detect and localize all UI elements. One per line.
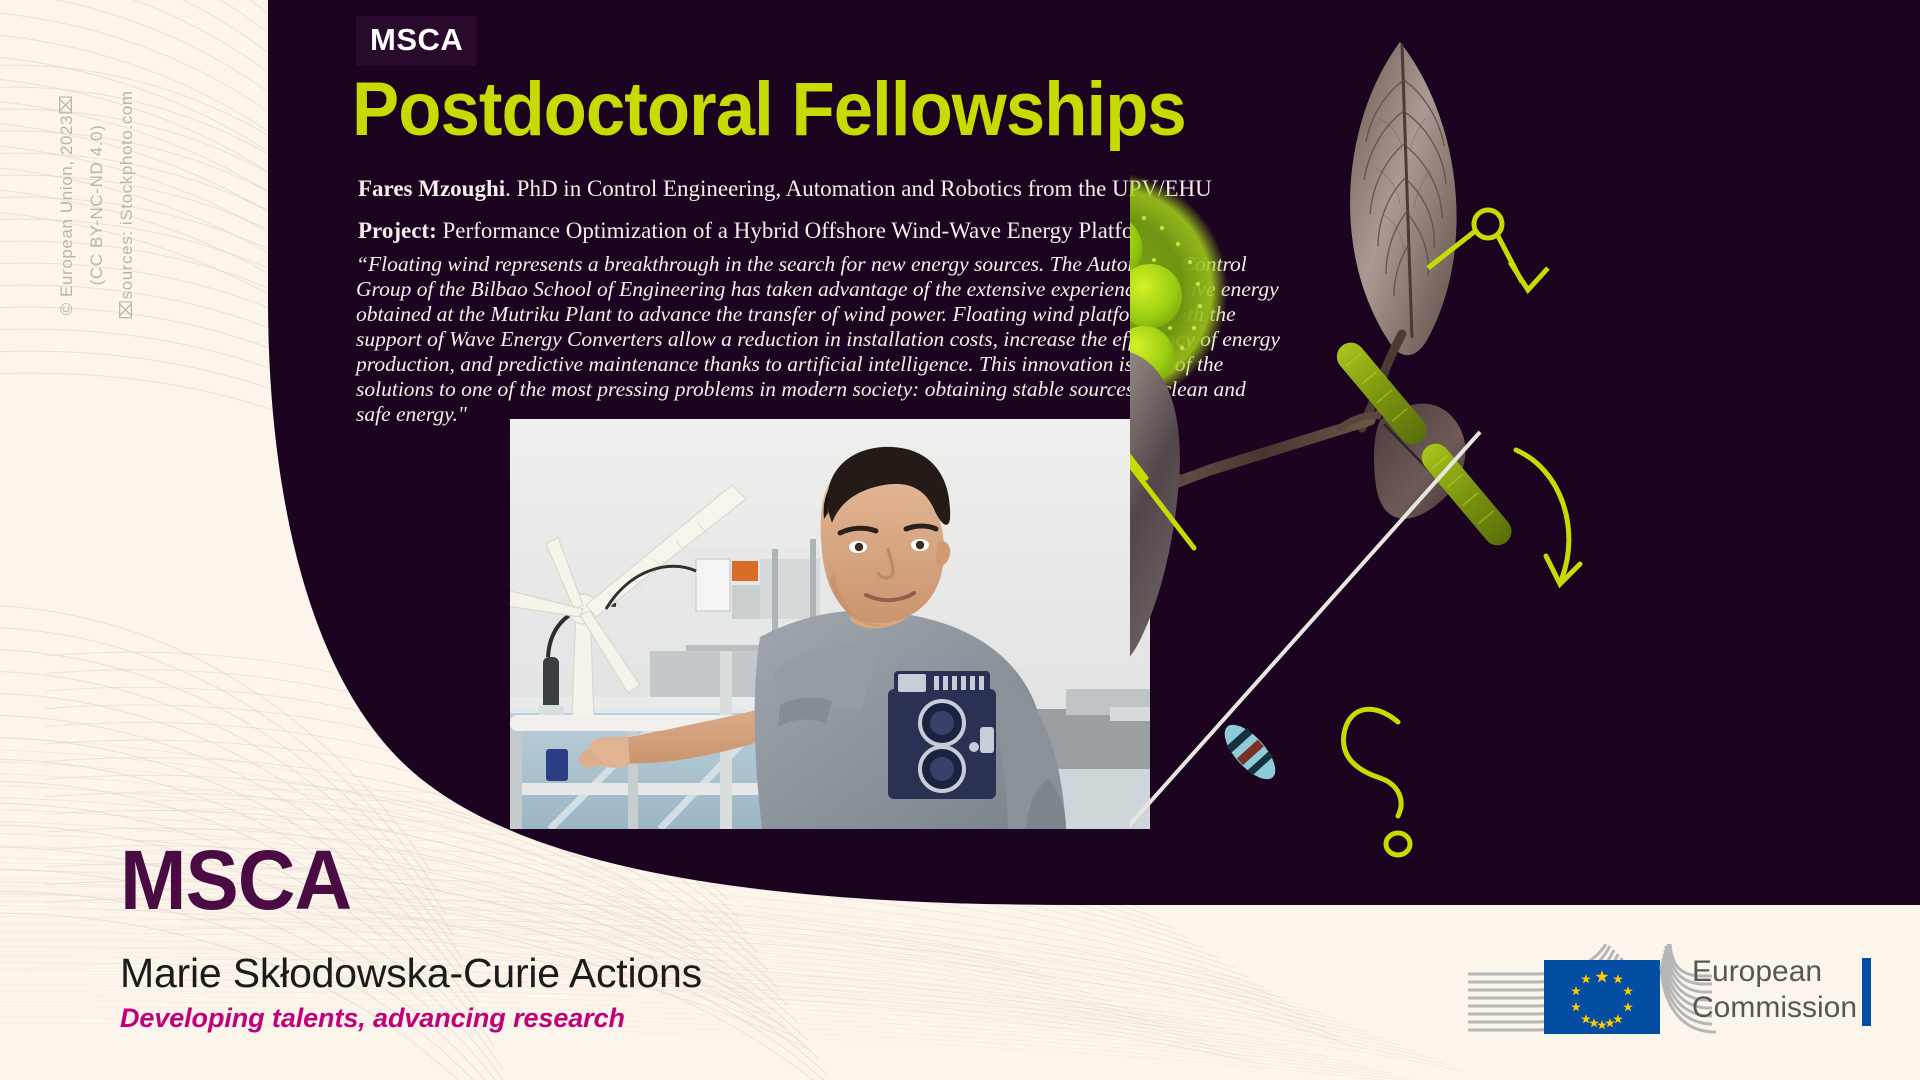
science-collage xyxy=(1130,0,1920,905)
ec-line-1: European xyxy=(1692,954,1857,990)
ec-line-2: Commission xyxy=(1692,990,1857,1026)
researcher-photo xyxy=(510,419,1150,829)
ec-blue-bar xyxy=(1862,958,1871,1026)
credit-line-3: ⌧sources: iStockphoto.com xyxy=(112,0,142,420)
annotation-arrows-graphic xyxy=(1130,450,1580,855)
credit-line-2: (CC BY-NC-ND 4.0) xyxy=(82,0,112,420)
page-title: Postdoctoral Fellowships xyxy=(352,72,1186,148)
msca-logo-chip: MSCA xyxy=(356,16,477,66)
european-commission-text: European Commission xyxy=(1692,954,1857,1026)
msca-chip-label: MSCA xyxy=(370,22,463,57)
copyright-credit: © European Union, 2023⌧ (CC BY-NC-ND 4.0… xyxy=(52,0,142,420)
researcher-credentials: . PhD in Control Engineering, Automation… xyxy=(505,176,1212,201)
project-label: Project: xyxy=(358,218,437,243)
credit-line-1: © European Union, 2023⌧ xyxy=(52,0,82,420)
rock-sample-graphic xyxy=(1130,348,1180,680)
project-title: Performance Optimization of a Hybrid Off… xyxy=(437,218,1159,243)
project-line: Project: Performance Optimization of a H… xyxy=(358,218,1159,244)
resistor-graphic xyxy=(1130,432,1480,838)
msca-wordmark: MSCA xyxy=(120,838,351,922)
researcher-line: Fares Mzoughi. PhD in Control Engineerin… xyxy=(358,176,1212,202)
msca-tagline: Developing talents, advancing research xyxy=(120,1003,625,1034)
leaf-graphic xyxy=(1350,42,1457,355)
researcher-name: Fares Mzoughi xyxy=(358,176,505,201)
msca-full-name: Marie Skłodowska-Curie Actions xyxy=(120,950,702,997)
